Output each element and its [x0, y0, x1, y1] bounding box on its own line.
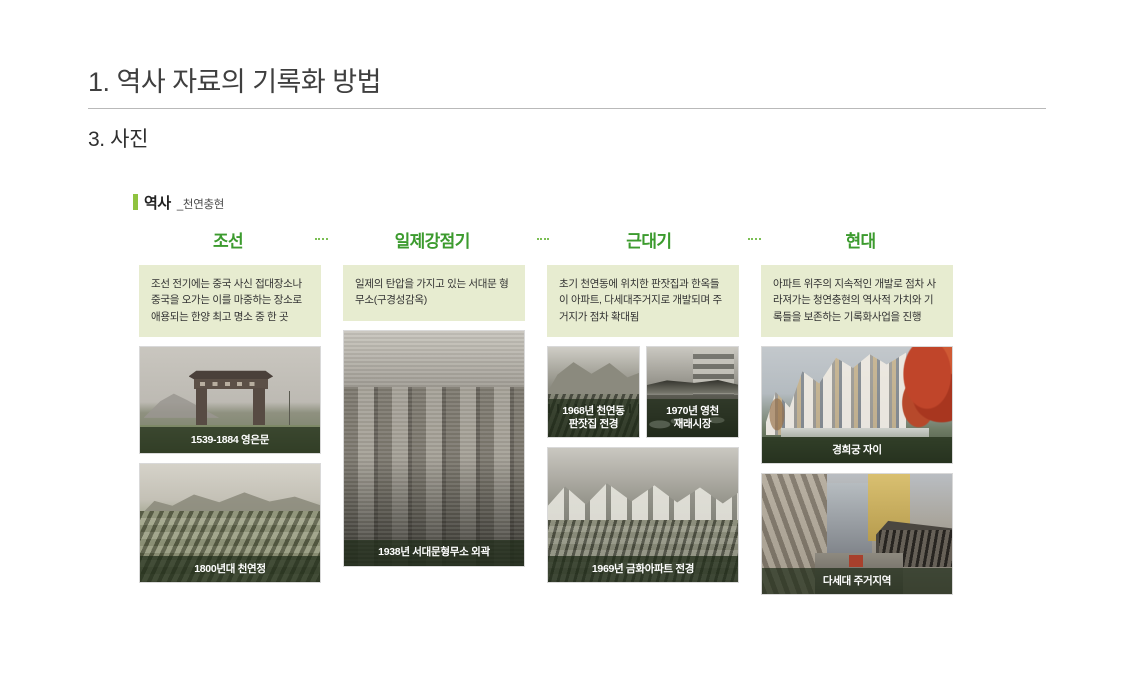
timeline-connector-2 — [748, 238, 761, 242]
photo-card[interactable]: 1968년 천연동 판잣집 전경 — [547, 346, 640, 438]
photo-caption: 다세대 주거지역 — [762, 568, 952, 594]
timeline: 조선 일제강점기 근대기 현대 — [143, 226, 958, 252]
description-box: 조선 전기에는 중국 사신 접대장소나 중국을 오가는 이를 마중하는 장소로 … — [139, 265, 321, 337]
description-box: 일제의 탄압을 가지고 있는 서대문 형무소(구경성감옥) — [343, 265, 525, 321]
section-label: 역사 _천연충현 — [133, 192, 224, 213]
photo-card[interactable]: 1938년 서대문형무소 외곽 — [343, 330, 525, 567]
section-subtitle: _천연충현 — [177, 196, 224, 212]
timeline-connector-0 — [315, 238, 328, 242]
timeline-era-1: 일제강점기 — [330, 227, 535, 252]
photo-stack: 1968년 천연동 판잣집 전경 1970년 영천 재래시장 1969년 금화아… — [547, 346, 739, 583]
content-columns: 조선 전기에는 중국 사신 접대장소나 중국을 오가는 이를 마중하는 장소로 … — [139, 265, 959, 595]
column-joseon: 조선 전기에는 중국 사신 접대장소나 중국을 오가는 이를 마중하는 장소로 … — [139, 265, 321, 583]
slide-canvas: 1. 역사 자료의 기록화 방법 3. 사진 역사 _천연충현 조선 일제강점기… — [0, 0, 1125, 675]
photo-caption: 1968년 천연동 판잣집 전경 — [548, 399, 639, 437]
photo-row: 1968년 천연동 판잣집 전경 1970년 영천 재래시장 — [547, 346, 739, 438]
page-title: 1. 역사 자료의 기록화 방법 — [88, 66, 1046, 108]
photo-card[interactable]: 다세대 주거지역 — [761, 473, 953, 595]
photo-caption: 1539-1884 영은문 — [140, 427, 320, 453]
section-title: 역사 — [144, 192, 171, 213]
description-box: 초기 천연동에 위치한 판잣집과 한옥들이 아파트, 다세대주거지로 개발되며 … — [547, 265, 739, 337]
description-box: 아파트 위주의 지속적인 개발로 점차 사라져가는 청연충현의 역사적 가치와 … — [761, 265, 953, 337]
photo-card[interactable]: 1970년 영천 재래시장 — [646, 346, 739, 438]
photo-card[interactable]: 1969년 금화아파트 전경 — [547, 447, 739, 583]
column-modern: 초기 천연동에 위치한 판잣집과 한옥들이 아파트, 다세대주거지로 개발되며 … — [547, 265, 739, 583]
column-contemporary: 아파트 위주의 지속적인 개발로 점차 사라져가는 청연충현의 역사적 가치와 … — [761, 265, 953, 595]
photo-card[interactable]: 1800년대 천연정 — [139, 463, 321, 583]
photo-caption: 경희궁 자이 — [762, 437, 952, 463]
photo-card[interactable]: 경희궁 자이 — [761, 346, 953, 464]
photo-image-seodaemun-prison — [344, 331, 524, 566]
column-japanese-occupation: 일제의 탄압을 가지고 있는 서대문 형무소(구경성감옥) 1938년 서대문형… — [343, 265, 525, 567]
photo-caption: 1969년 금화아파트 전경 — [548, 556, 738, 582]
photo-stack: 경희궁 자이 다세대 주거지역 — [761, 346, 953, 595]
timeline-era-3: 현대 — [763, 227, 958, 252]
photo-stack: 1539-1884 영은문 1800년대 천연정 — [139, 346, 321, 583]
page-subtitle: 3. 사진 — [88, 109, 1046, 153]
photo-caption: 1970년 영천 재래시장 — [647, 399, 738, 437]
timeline-connector-1 — [537, 238, 550, 242]
section-accent-bar — [133, 194, 138, 210]
timeline-era-2: 근대기 — [551, 227, 746, 252]
photo-caption: 1938년 서대문형무소 외곽 — [344, 540, 524, 566]
photo-card[interactable]: 1539-1884 영은문 — [139, 346, 321, 454]
photo-stack: 1938년 서대문형무소 외곽 — [343, 330, 525, 567]
header: 1. 역사 자료의 기록화 방법 3. 사진 — [88, 66, 1046, 153]
timeline-era-0: 조선 — [143, 227, 313, 252]
photo-caption: 1800년대 천연정 — [140, 556, 320, 582]
